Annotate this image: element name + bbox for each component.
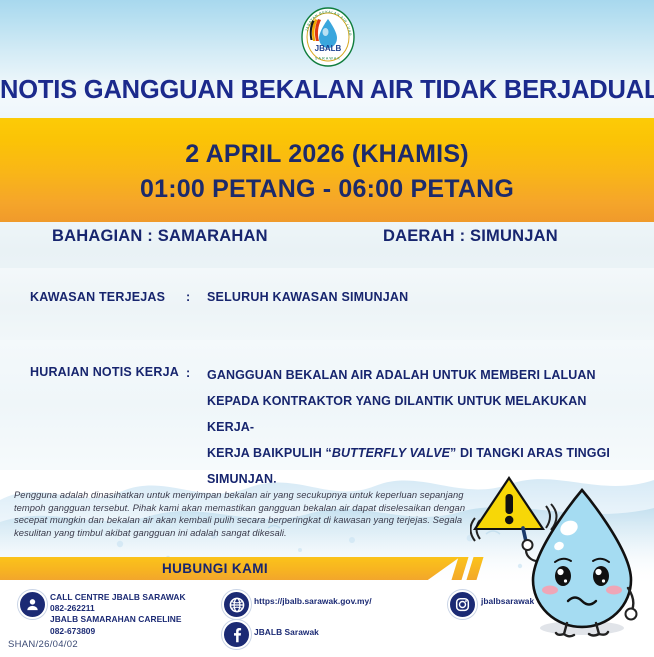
- bahagian-label: BAHAGIAN : SAMARAHAN: [52, 227, 268, 246]
- work-notice-line-2: KEPADA KONTRAKTOR YANG DILANTIK UNTUK ME…: [207, 388, 627, 440]
- instagram-icon[interactable]: [448, 590, 477, 619]
- water-disruption-notice-poster: JBALB SARAWAK JABATAN BEKALAN AIR LUAR B…: [0, 0, 654, 657]
- facebook-icon[interactable]: [222, 620, 251, 649]
- facebook-handle[interactable]: JBALB Sarawak: [254, 627, 319, 638]
- notice-date: 2 APRIL 2026 (KHAMIS): [0, 140, 654, 169]
- svg-text:JBALB: JBALB: [315, 44, 342, 53]
- work-notice-line-3-post: ” DI TANGKI ARAS TINGGI: [450, 446, 610, 460]
- water-droplet-mascot: [470, 468, 654, 657]
- work-notice-label: HURAIAN NOTIS KERJA: [30, 365, 179, 379]
- affected-area-value: SELURUH KAWASAN SIMUNJAN: [207, 290, 408, 304]
- region-row: BAHAGIAN : SAMARAHAN DAERAH : SIMUNJAN: [0, 227, 654, 253]
- daerah-label: DAERAH : SIMUNJAN: [383, 227, 558, 246]
- page-title: NOTIS GANGGUAN BEKALAN AIR TIDAK BERJADU…: [0, 76, 654, 105]
- work-notice-emphasis: BUTTERFLY VALVE: [332, 446, 450, 460]
- work-notice-line-3-pre: KERJA BAIKPULIH “: [207, 446, 332, 460]
- affected-area-label: KAWASAN TERJEJAS: [30, 290, 165, 304]
- reference-code: SHAN/26/04/02: [8, 639, 78, 650]
- jbalb-logo-icon: JBALB SARAWAK JABATAN BEKALAN AIR LUAR B…: [297, 6, 359, 68]
- notice-time-range: 01:00 PETANG - 06:00 PETANG: [0, 175, 654, 204]
- work-notice-colon: :: [186, 366, 190, 380]
- work-notice-line-3: KERJA BAIKPULIH “BUTTERFLY VALVE” DI TAN…: [207, 440, 627, 466]
- affected-area-colon: :: [186, 290, 190, 304]
- globe-icon[interactable]: [222, 590, 251, 619]
- work-notice-line-1: GANGGUAN BEKALAN AIR ADALAH UNTUK MEMBER…: [207, 362, 627, 388]
- phone-icon: [18, 590, 47, 619]
- disclaimer-text: Pengguna adalah dinasihatkan untuk menyi…: [14, 489, 474, 539]
- call-centre-text: CALL CENTRE JBALB SARAWAK 082-262211 JBA…: [50, 592, 186, 637]
- website-url[interactable]: https://jbalb.sarawak.gov.my/: [254, 596, 372, 607]
- date-time-banner: 2 APRIL 2026 (KHAMIS) 01:00 PETANG - 06:…: [0, 118, 654, 222]
- affected-area-panel: [0, 268, 654, 340]
- poster-header: JBALB SARAWAK JABATAN BEKALAN AIR LUAR B…: [0, 0, 654, 118]
- instagram-handle[interactable]: jbalbsarawak: [481, 596, 534, 607]
- svg-text:SARAWAK: SARAWAK: [315, 57, 341, 61]
- contact-banner-title: HUBUNGI KAMI: [0, 561, 430, 576]
